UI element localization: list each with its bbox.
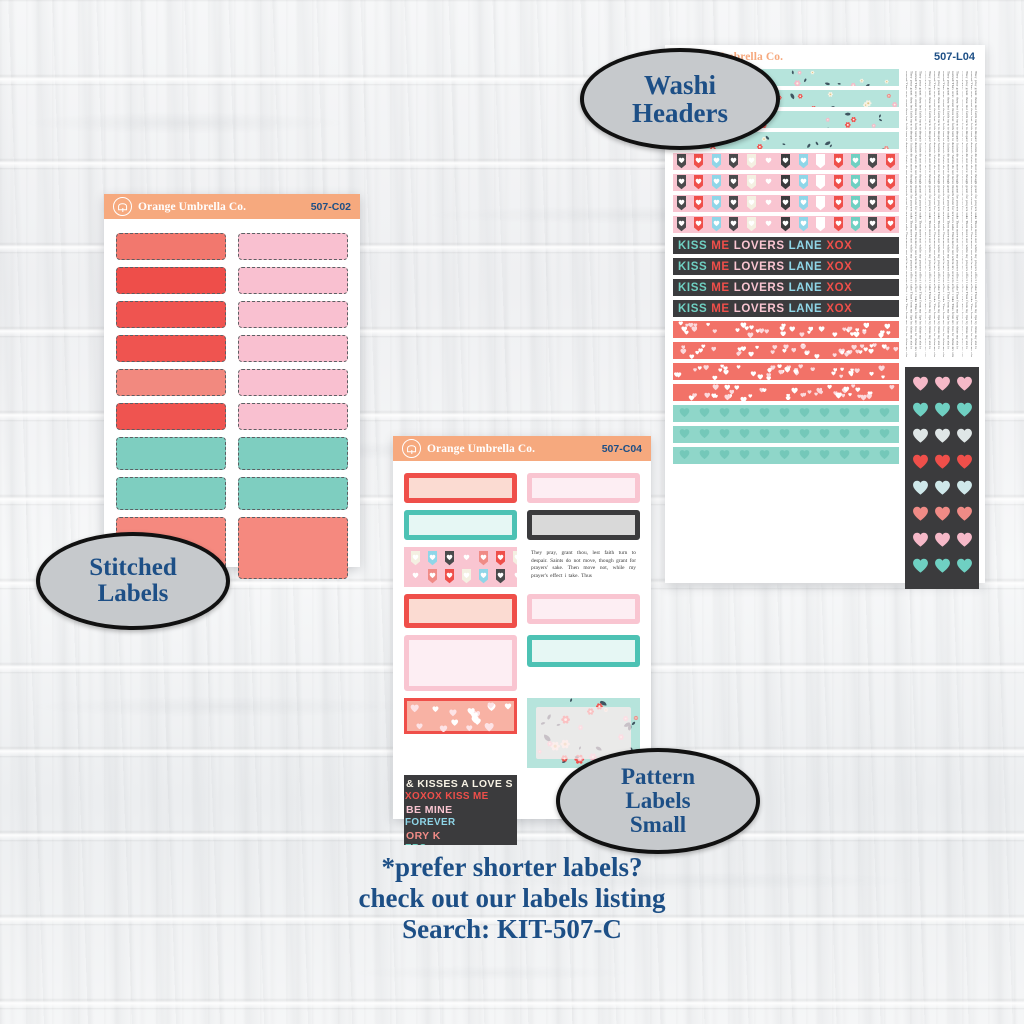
heart-sticker-panel xyxy=(905,367,979,589)
wordart-line: FOREVER xyxy=(404,817,517,828)
heart-sticker[interactable] xyxy=(912,401,929,418)
stitched-label[interactable] xyxy=(238,267,348,294)
heart-sticker-column xyxy=(956,375,973,574)
wordart-line: ERS xyxy=(404,843,517,845)
text-pattern-label[interactable]: They pray, grant thou, lest faith turn t… xyxy=(527,547,640,587)
heart-sticker[interactable] xyxy=(956,479,973,496)
washi-strip-kiss-me[interactable]: KISSMELOVERSLANEXOX xyxy=(673,258,899,275)
heart-sticker-column xyxy=(934,375,951,574)
vertical-text-strip[interactable]: They pray grant thou lest faith turn to … xyxy=(962,71,969,359)
umbrella-logo-icon xyxy=(402,439,421,458)
brand: Orange Umbrella Co. xyxy=(402,439,535,458)
washi-side-column: They pray grant thou lest faith turn to … xyxy=(905,69,979,468)
heart-sticker[interactable] xyxy=(912,505,929,522)
stitched-label[interactable] xyxy=(116,267,226,294)
framed-label[interactable] xyxy=(404,473,517,503)
vertical-text-strip[interactable]: They pray grant thou lest faith turn to … xyxy=(934,71,941,359)
heart-sticker[interactable] xyxy=(912,557,929,574)
stitched-label[interactable] xyxy=(116,369,226,396)
heart-sticker[interactable] xyxy=(934,479,951,496)
washi-strip-hearts-coral[interactable] xyxy=(673,363,899,380)
promo-line-3: Search: KIT-507-C xyxy=(0,914,1024,945)
stitched-label[interactable] xyxy=(116,437,226,470)
vertical-text-strip[interactable]: They pray grant thou lest faith turn to … xyxy=(925,71,932,359)
heart-sticker[interactable] xyxy=(956,557,973,574)
heart-sticker[interactable] xyxy=(934,401,951,418)
heart-sticker[interactable] xyxy=(934,375,951,392)
heart-sticker[interactable] xyxy=(934,505,951,522)
heart-sticker[interactable] xyxy=(956,375,973,392)
heart-sticker[interactable] xyxy=(956,453,973,470)
framed-label[interactable] xyxy=(404,510,517,540)
heart-sticker[interactable] xyxy=(934,557,951,574)
brand-name: Orange Umbrella Co. xyxy=(138,201,246,213)
heart-sticker[interactable] xyxy=(912,531,929,548)
floral-label-center xyxy=(536,707,631,759)
washi-strip-banner[interactable] xyxy=(673,195,899,212)
wordart-line: & KISSES A LOVE S xyxy=(404,778,517,790)
washi-kiss-text: KISSMELOVERSLANEXOX xyxy=(673,261,854,273)
vertical-text-strip[interactable]: They pray grant thou lest faith turn to … xyxy=(915,71,922,359)
washi-kiss-text: KISSMELOVERSLANEXOX xyxy=(673,303,854,315)
washi-strip-banner[interactable] xyxy=(673,153,899,170)
stitched-label[interactable] xyxy=(116,335,226,362)
washi-strip-hearts-coral[interactable] xyxy=(673,342,899,359)
washi-strip-hearts-teal[interactable] xyxy=(673,405,899,422)
heart-sticker-column xyxy=(912,375,929,574)
callout-stitched-labels: StitchedLabels xyxy=(36,532,230,630)
washi-kiss-text: KISSMELOVERSLANEXOX xyxy=(673,282,854,294)
product-listing-image: Orange Umbrella Co. 507-C02 Orange Umbre… xyxy=(0,0,1024,1024)
brand: Orange Umbrella Co. xyxy=(113,197,246,216)
callout-washi-text: WashiHeaders xyxy=(632,71,728,127)
wordart-line: XOXOX KISS ME xyxy=(404,791,517,802)
wordart-line: BE MINE xyxy=(404,804,517,816)
callout-pattern-text: PatternLabelsSmall xyxy=(621,765,695,837)
heart-sticker[interactable] xyxy=(912,479,929,496)
vertical-text-strip[interactable]: They pray grant thou lest faith turn to … xyxy=(906,71,913,359)
sheet-header: Orange Umbrella Co. 507-C02 xyxy=(104,194,360,219)
stitched-label[interactable] xyxy=(116,403,226,430)
promo-line-1: *prefer shorter labels? xyxy=(0,852,1024,883)
sheet-code: 507-C02 xyxy=(311,201,351,213)
heart-sticker[interactable] xyxy=(912,427,929,444)
stitched-label[interactable] xyxy=(238,369,348,396)
framed-label[interactable] xyxy=(527,473,640,503)
washi-strip-banner[interactable] xyxy=(673,216,899,233)
promo-line-2: check out our labels listing xyxy=(0,883,1024,914)
sheet-code: 507-C04 xyxy=(602,443,642,455)
sticker-sheet-stitched[interactable]: Orange Umbrella Co. 507-C02 xyxy=(104,194,360,567)
stitched-label[interactable] xyxy=(116,233,226,260)
callout-washi-headers: WashiHeaders xyxy=(580,48,780,150)
washi-strip-kiss-me[interactable]: KISSMELOVERSLANEXOX xyxy=(673,300,899,317)
umbrella-logo-icon xyxy=(113,197,132,216)
heart-sticker[interactable] xyxy=(934,531,951,548)
callout-pattern-labels-small: PatternLabelsSmall xyxy=(556,748,760,854)
heart-sticker[interactable] xyxy=(956,505,973,522)
stitched-label[interactable] xyxy=(238,301,348,328)
label-text: They pray, grant thou, lest faith turn t… xyxy=(527,547,640,587)
brand-name: Orange Umbrella Co. xyxy=(427,443,535,455)
framed-label[interactable] xyxy=(404,594,517,628)
stitched-label[interactable] xyxy=(116,477,226,510)
stitched-label[interactable] xyxy=(238,233,348,260)
vertical-text-strip[interactable]: They pray grant thou lest faith turn to … xyxy=(943,71,950,359)
vertical-text-strip[interactable]: They pray grant thou lest faith turn to … xyxy=(952,71,959,359)
promo-text: *prefer shorter labels? check out our la… xyxy=(0,852,1024,944)
wordart-label[interactable]: & KISSES A LOVE SXOXOX KISS MEBE MINEFOR… xyxy=(404,775,517,845)
washi-strip-kiss-me[interactable]: KISSMELOVERSLANEXOX xyxy=(673,237,899,254)
framed-label[interactable] xyxy=(527,635,640,667)
heart-sticker[interactable] xyxy=(934,427,951,444)
heart-sticker[interactable] xyxy=(956,531,973,548)
washi-strip-hearts-coral[interactable] xyxy=(673,321,899,338)
heart-sticker[interactable] xyxy=(912,375,929,392)
washi-strip-hearts-coral[interactable] xyxy=(673,384,899,401)
framed-label[interactable] xyxy=(404,635,517,691)
washi-strip-hearts-teal[interactable] xyxy=(673,447,899,464)
washi-strip-kiss-me[interactable]: KISSMELOVERSLANEXOX xyxy=(673,279,899,296)
stitched-label[interactable] xyxy=(238,477,348,510)
wordart-line: ORY K xyxy=(404,830,517,842)
heart-sticker[interactable] xyxy=(956,401,973,418)
heart-sticker[interactable] xyxy=(934,453,951,470)
sheet-code: 507-L04 xyxy=(934,51,975,63)
washi-kiss-text: KISSMELOVERSLANEXOX xyxy=(673,240,854,252)
heart-sticker[interactable] xyxy=(956,427,973,444)
stitched-label[interactable] xyxy=(238,335,348,362)
callout-stitched-text: StitchedLabels xyxy=(89,555,177,607)
framed-label[interactable] xyxy=(527,510,640,540)
stitched-label[interactable] xyxy=(116,301,226,328)
stitched-label[interactable] xyxy=(238,437,348,470)
hearts-pattern-label[interactable] xyxy=(404,698,517,734)
framed-label[interactable] xyxy=(527,594,640,624)
washi-strip-hearts-teal[interactable] xyxy=(673,426,899,443)
stitched-label[interactable] xyxy=(238,403,348,430)
stitched-label[interactable] xyxy=(238,517,348,579)
heart-sticker[interactable] xyxy=(912,453,929,470)
vertical-text-strips: They pray grant thou lest faith turn to … xyxy=(905,69,979,361)
washi-strip-banner[interactable] xyxy=(673,174,899,191)
sheet-header: Orange Umbrella Co. 507-C04 xyxy=(393,436,651,461)
vertical-text-strip[interactable]: They pray grant thou lest faith turn to … xyxy=(971,71,978,359)
banner-pattern-label[interactable] xyxy=(404,547,517,587)
